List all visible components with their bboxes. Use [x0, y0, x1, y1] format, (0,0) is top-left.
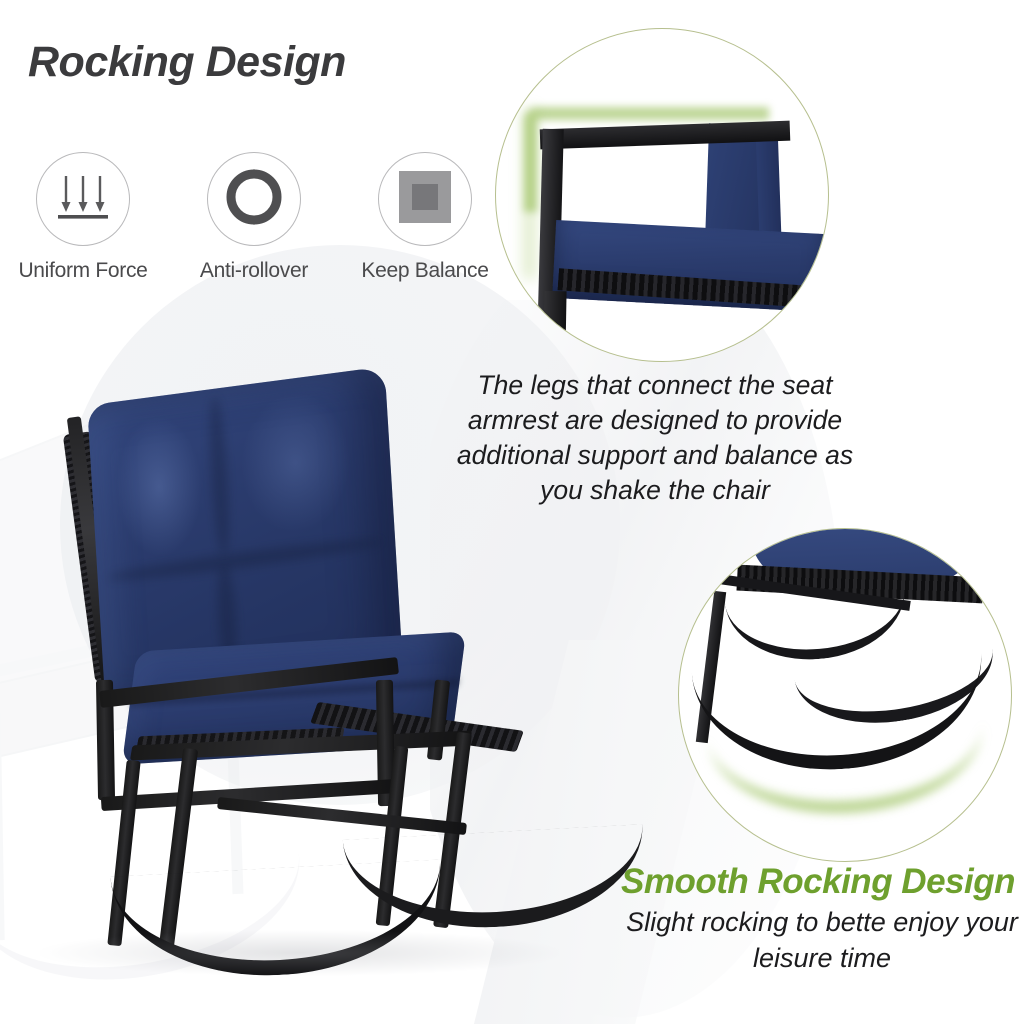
rocker-base-detail-photo [678, 528, 1012, 862]
feature-uniform-force: Uniform Force [16, 152, 150, 283]
feature-anti-rollover: Anti-rollover [187, 152, 321, 283]
armrest-support-detail-photo [495, 28, 829, 362]
feature-icon-row: Uniform Force Anti-rollover [16, 152, 492, 283]
armrest-lower-leg [543, 291, 566, 357]
feature-icon-circle [207, 152, 301, 246]
rocking-chair [45, 380, 625, 980]
feature-label: Keep Balance [361, 259, 488, 283]
product-feature-image: Rocking Design [0, 0, 1024, 1024]
rotation-arrows-ring-icon [223, 166, 285, 233]
smooth-rocking-caption: Slight rocking to bette enjoy your leisu… [624, 905, 1020, 976]
cushion-highlight [237, 386, 355, 540]
leg-cross-brace [217, 797, 467, 835]
smooth-rocking-heading: Smooth Rocking Design [612, 862, 1024, 902]
cushion-highlight [112, 411, 206, 562]
downward-arrows-on-bar-icon [52, 166, 114, 233]
feature-label: Uniform Force [18, 259, 147, 283]
feature-keep-balance: Keep Balance [358, 152, 492, 283]
green-swoosh-accent [707, 722, 987, 820]
cushion-tuft-seam [207, 396, 233, 556]
page-title: Rocking Design [28, 38, 346, 87]
feature-icon-circle [378, 152, 472, 246]
nested-squares-icon [396, 168, 454, 231]
feature-icon-circle [36, 152, 130, 246]
feature-label: Anti-rollover [200, 259, 308, 283]
floor-shadow [40, 930, 560, 976]
main-product-image [0, 380, 640, 980]
